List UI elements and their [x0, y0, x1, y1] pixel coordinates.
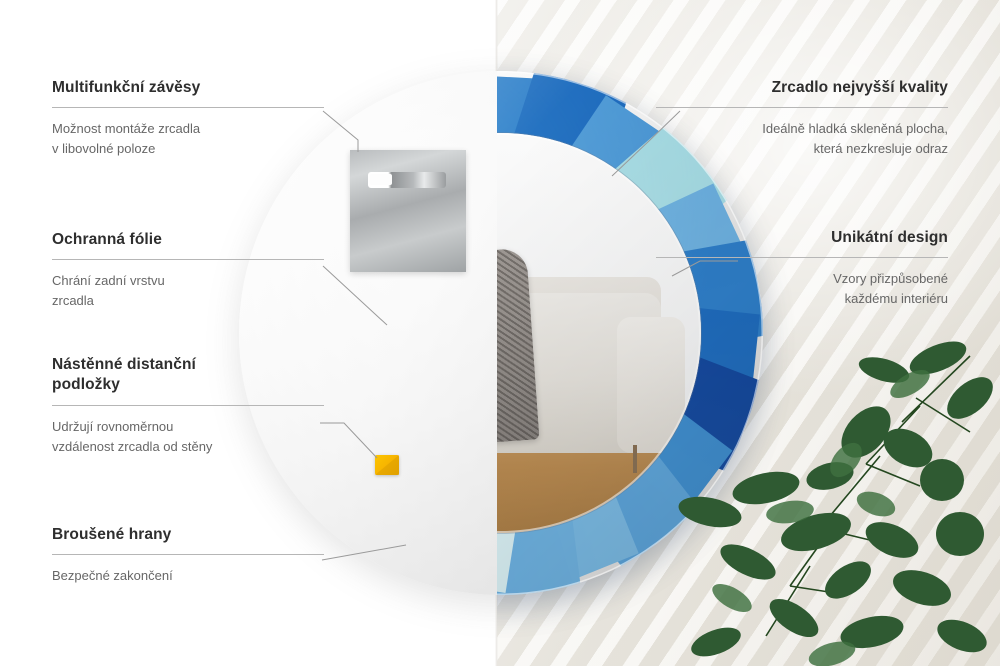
feature-rule — [656, 107, 948, 108]
feature-desc: Bezpečné zakončení — [52, 566, 324, 586]
feature-rule — [52, 405, 324, 406]
feature-desc: Možnost montáže zrcadlav libovolné poloz… — [52, 119, 324, 159]
feature-unikatni-design: Unikátní design Vzory přizpůsobenékaždém… — [656, 228, 948, 309]
feature-title: Zrcadlo nejvyšší kvality — [656, 78, 948, 98]
bracket-keyhole-slot — [368, 172, 446, 188]
feature-title: Nástěnné distančnípodložky — [52, 355, 324, 396]
feature-title: Multifunkční závěsy — [52, 78, 324, 98]
feature-desc: Ideálně hladká skleněná plocha,která nez… — [656, 119, 948, 159]
foliage-decoration — [670, 336, 1000, 666]
feature-zrcadlo-nejvyssi-kvality: Zrcadlo nejvyšší kvality Ideálně hladká … — [656, 78, 948, 159]
feature-desc: Vzory přizpůsobenékaždému interiéru — [656, 269, 948, 309]
feature-title: Ochranná fólie — [52, 230, 324, 250]
wall-bracket-icon — [350, 150, 466, 272]
feature-desc: Udržují rovnoměrnouvzdálenost zrcadla od… — [52, 417, 324, 457]
feature-nastenne-distancni-podlozky: Nástěnné distančnípodložky Udržují rovno… — [52, 355, 324, 456]
feature-rule — [656, 257, 948, 258]
feature-ochranna-folie: Ochranná fólie Chrání zadní vrstvuzrcadl… — [52, 230, 324, 311]
reflected-sofa-leg — [633, 445, 637, 473]
spacer-pad-icon — [375, 455, 399, 475]
feature-desc: Chrání zadní vrstvuzrcadla — [52, 271, 324, 311]
feature-rule — [52, 554, 324, 555]
feature-multifunkcni-zavesy: Multifunkční závěsy Možnost montáže zrca… — [52, 78, 324, 159]
feature-brousene-hrany: Broušené hrany Bezpečné zakončení — [52, 525, 324, 586]
feature-title: Unikátní design — [656, 228, 948, 248]
feature-rule — [52, 259, 324, 260]
feature-title: Broušené hrany — [52, 525, 324, 545]
feature-rule — [52, 107, 324, 108]
infographic-canvas: Multifunkční závěsy Možnost montáže zrca… — [0, 0, 1000, 666]
